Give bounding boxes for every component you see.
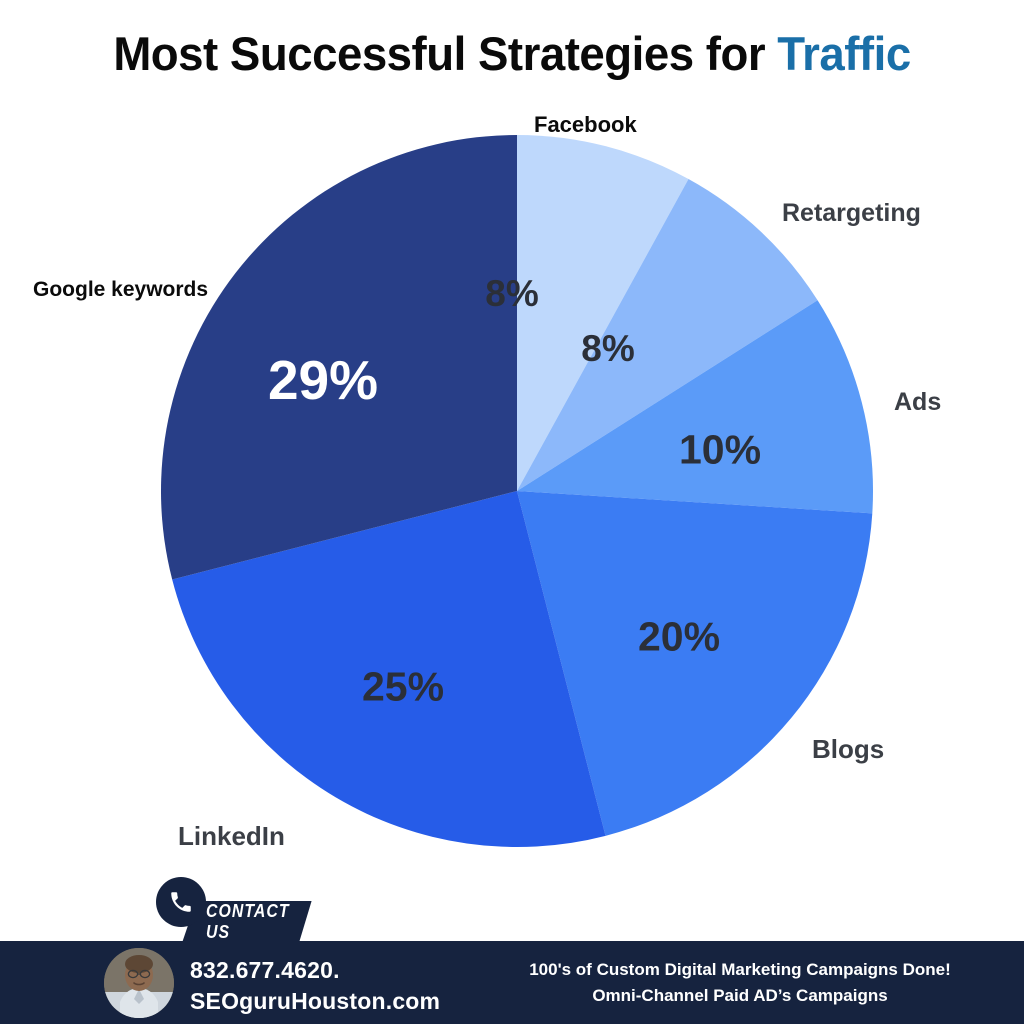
website-url[interactable]: SEOguruHouston.com: [190, 986, 440, 1017]
contact-details: 832.677.4620. SEOguruHouston.com: [190, 955, 440, 1017]
slice-label-linkedin: LinkedIn: [178, 821, 285, 852]
slice-value-ads: 10%: [679, 427, 761, 474]
tagline-line-1: 100's of Custom Digital Marketing Campai…: [470, 957, 1010, 983]
slice-label-blogs: Blogs: [812, 734, 884, 765]
footer-tagline: 100's of Custom Digital Marketing Campai…: [470, 957, 1010, 1009]
pie-chart-svg: [160, 134, 874, 848]
page-title-main: Most Successful Strategies for: [113, 27, 777, 80]
slice-label-ads: Ads: [894, 388, 941, 417]
slice-value-retargeting: 8%: [581, 328, 634, 370]
slice-value-blogs: 20%: [638, 614, 720, 661]
slice-value-facebook: 8%: [485, 273, 538, 315]
slice-label-facebook: Facebook: [534, 112, 637, 138]
contact-us-ribbon[interactable]: CONTACT US: [206, 901, 312, 943]
slice-label-retargeting: Retargeting: [782, 199, 921, 228]
slice-value-linkedin: 25%: [362, 664, 444, 711]
page-title-accent: Traffic: [777, 27, 910, 80]
contact-us-label: CONTACT US: [206, 901, 312, 943]
pie-chart: 8% 8% 10% 20% 25% 29%: [160, 134, 874, 848]
tagline-line-2: Omni-Channel Paid AD’s Campaigns: [470, 983, 1010, 1009]
infographic-canvas: Most Successful Strategies for Traffic 8…: [0, 0, 1024, 1024]
page-title: Most Successful Strategies for Traffic: [15, 26, 1008, 81]
phone-number[interactable]: 832.677.4620.: [190, 955, 440, 986]
slice-value-google-keywords: 29%: [268, 348, 378, 412]
avatar: [104, 948, 174, 1018]
slice-label-google-keywords: Google keywords: [33, 278, 208, 302]
phone-icon: [156, 877, 206, 927]
